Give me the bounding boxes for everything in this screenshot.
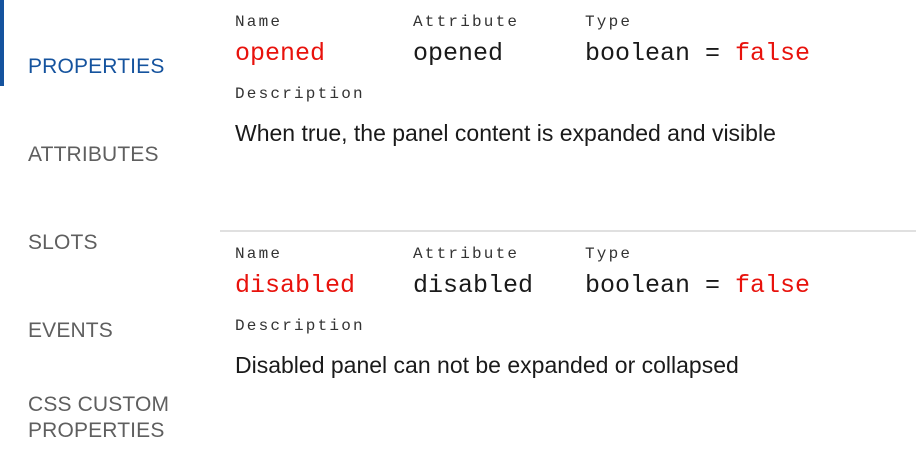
tab-css-custom-properties[interactable]: CSS CUSTOM PROPERTIES — [0, 366, 220, 444]
column-header-attribute: Attribute — [413, 12, 519, 32]
column-header-name: Name — [235, 12, 325, 32]
property-attribute-value: opened — [413, 38, 519, 70]
tab-properties[interactable]: PROPERTIES — [0, 28, 220, 80]
property-type-value: boolean = false — [585, 270, 810, 302]
description-text: Disabled panel can not be expanded or co… — [235, 350, 916, 380]
tab-events-label: EVENTS — [28, 319, 113, 342]
property-attribute-value: disabled — [413, 270, 533, 302]
property-default-value: false — [735, 39, 810, 68]
column-header-attribute: Attribute — [413, 244, 533, 264]
property-type-equals: = — [690, 271, 735, 300]
tab-css-custom-properties-label: CSS CUSTOM PROPERTIES — [28, 393, 169, 442]
tab-attributes[interactable]: ATTRIBUTES — [0, 116, 220, 168]
property-type-value: boolean = false — [585, 38, 810, 70]
property-type-equals: = — [690, 39, 735, 68]
api-viewer-panel: PROPERTIES ATTRIBUTES SLOTS EVENTS CSS C… — [0, 0, 916, 464]
property-type-cell: Type boolean = false — [585, 232, 810, 302]
property-type-name: boolean — [585, 39, 690, 68]
property-name-cell: Name opened — [235, 0, 325, 70]
column-header-type: Type — [585, 12, 810, 32]
tab-slots[interactable]: SLOTS — [0, 204, 220, 256]
property-header-row: Name opened Attribute opened Type boolea… — [220, 0, 916, 84]
property-attribute-cell: Attribute disabled — [413, 232, 533, 302]
property-name-value: opened — [235, 38, 325, 70]
property-item: Name disabled Attribute disabled Type bo… — [220, 230, 916, 464]
property-default-value: false — [735, 271, 810, 300]
tab-events[interactable]: EVENTS — [0, 292, 220, 344]
description-label: Description — [235, 316, 916, 336]
tab-properties-label: PROPERTIES — [28, 55, 164, 78]
property-header-row: Name disabled Attribute disabled Type bo… — [220, 232, 916, 316]
property-description-block: Description When true, the panel content… — [220, 84, 916, 148]
description-label: Description — [235, 84, 916, 104]
tab-attributes-label: ATTRIBUTES — [28, 143, 159, 166]
description-text: When true, the panel content is expanded… — [235, 118, 916, 148]
column-header-name: Name — [235, 244, 355, 264]
vertical-tab-list: PROPERTIES ATTRIBUTES SLOTS EVENTS CSS C… — [0, 0, 220, 464]
properties-content: Name opened Attribute opened Type boolea… — [220, 0, 916, 464]
property-description-block: Description Disabled panel can not be ex… — [220, 316, 916, 380]
property-item: Name opened Attribute opened Type boolea… — [220, 0, 916, 230]
tab-slots-label: SLOTS — [28, 231, 98, 254]
property-name-cell: Name disabled — [235, 232, 355, 302]
property-type-cell: Type boolean = false — [585, 0, 810, 70]
property-attribute-cell: Attribute opened — [413, 0, 519, 70]
property-name-value: disabled — [235, 270, 355, 302]
column-header-type: Type — [585, 244, 810, 264]
property-type-name: boolean — [585, 271, 690, 300]
